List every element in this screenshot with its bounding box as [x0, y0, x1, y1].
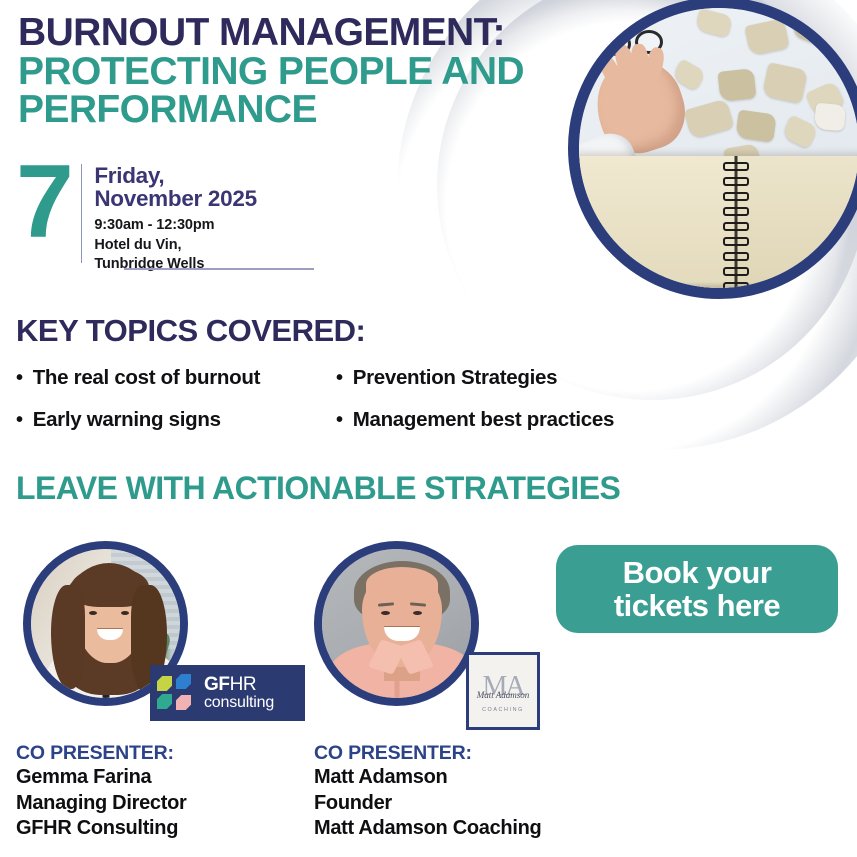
- bullet-icon: •: [336, 410, 343, 430]
- gfhr-consulting-logo: GFHR consulting: [150, 665, 305, 721]
- key-topics-heading: KEY TOPICS COVERED:: [16, 313, 365, 349]
- ma-subtitle: COACHING: [482, 707, 524, 713]
- topic-label: The real cost of burnout: [33, 366, 260, 390]
- title-line-1: BURNOUT MANAGEMENT:: [18, 14, 548, 53]
- cta-line-2: tickets here: [614, 589, 780, 622]
- topic-label: Early warning signs: [33, 408, 221, 432]
- event-venue-line-2: Tunbridge Wells: [94, 255, 256, 273]
- topic-label: Prevention Strategies: [353, 366, 557, 390]
- ma-script-name: Matt Adamson: [477, 690, 530, 700]
- title-line-2: PROTECTING PEOPLE AND: [18, 53, 548, 92]
- credit-role: Founder: [314, 791, 612, 817]
- key-topics-list: • The real cost of burnout • Prevention …: [16, 366, 716, 432]
- topic-item: • Prevention Strategies: [336, 366, 676, 390]
- event-poster: BURNOUT MANAGEMENT: PROTECTING PEOPLE AN…: [0, 0, 857, 857]
- credit-company: GFHR Consulting: [16, 816, 314, 842]
- topic-item: • Management best practices: [336, 408, 676, 432]
- bullet-icon: •: [16, 368, 23, 388]
- presenter-credit-matt: CO PRESENTER: Matt Adamson Founder Matt …: [314, 742, 612, 842]
- spiral-notebook: [579, 156, 857, 288]
- gfhr-logo-light: HR: [230, 674, 257, 695]
- topic-item: • Early warning signs: [16, 408, 336, 432]
- credit-company: Matt Adamson Coaching: [314, 816, 612, 842]
- event-venue-line-1: Hotel du Vin,: [94, 236, 256, 254]
- matt-adamson-coaching-logo: MA Matt Adamson COACHING: [466, 652, 540, 730]
- event-weekday: Friday,: [94, 164, 256, 187]
- title-line-3: PERFORMANCE: [18, 91, 548, 130]
- topic-label: Management best practices: [353, 408, 614, 432]
- presenter-credits: CO PRESENTER: Gemma Farina Managing Dire…: [16, 742, 836, 842]
- poster-title: BURNOUT MANAGEMENT: PROTECTING PEOPLE AN…: [18, 14, 548, 130]
- presenter-credit-gemma: CO PRESENTER: Gemma Farina Managing Dire…: [16, 742, 314, 842]
- gfhr-diamond-icon: [157, 674, 197, 712]
- event-month-year: November 2025: [94, 187, 256, 210]
- event-date-block: 7 Friday, November 2025 9:30am - 12:30pm…: [16, 158, 316, 273]
- event-day-number: 7: [16, 160, 71, 245]
- date-divider-vertical: [81, 164, 83, 263]
- cta-line-1: Book your: [623, 556, 772, 589]
- bullet-icon: •: [336, 368, 343, 388]
- credit-name: Gemma Farina: [16, 765, 314, 791]
- presenter-photo-matt: [314, 541, 479, 706]
- gfhr-logo-bold: GF: [204, 674, 230, 695]
- strapline: LEAVE WITH ACTIONABLE STRATEGIES: [16, 470, 620, 507]
- hero-photo-circle: [568, 0, 857, 299]
- gfhr-logo-subtitle: consulting: [204, 695, 274, 711]
- credit-label: CO PRESENTER:: [16, 742, 314, 765]
- book-tickets-button[interactable]: Book your tickets here: [556, 545, 838, 633]
- topic-item: • The real cost of burnout: [16, 366, 336, 390]
- credit-role: Managing Director: [16, 791, 314, 817]
- credit-name: Matt Adamson: [314, 765, 612, 791]
- event-time: 9:30am - 12:30pm: [94, 216, 256, 234]
- bullet-icon: •: [16, 410, 23, 430]
- hero-photo-image: [579, 8, 857, 288]
- date-divider-horizontal: [124, 268, 314, 270]
- credit-label: CO PRESENTER:: [314, 742, 612, 765]
